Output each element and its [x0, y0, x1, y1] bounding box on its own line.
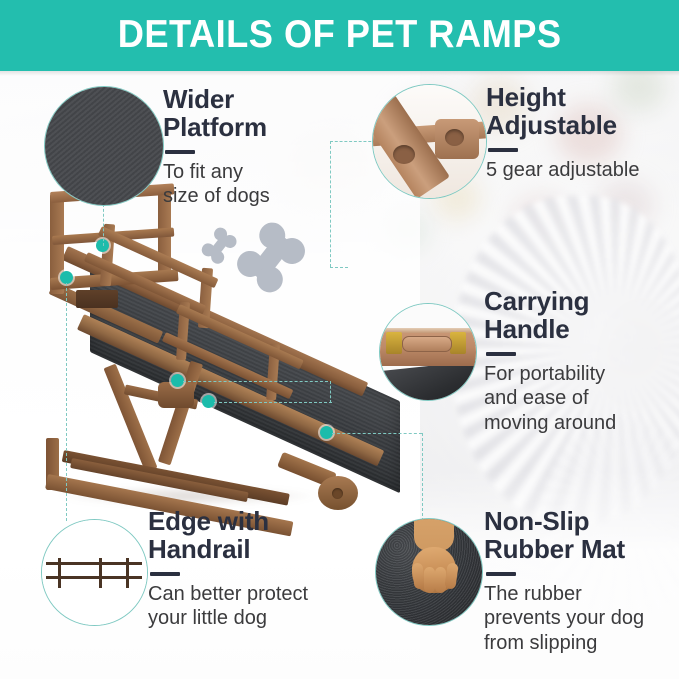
title-rule [150, 572, 180, 576]
feature-title: Wider Platform [163, 86, 353, 141]
feature-title: Non-Slip Rubber Mat [484, 508, 679, 563]
page-title: DETAILS OF PET RAMPS [118, 15, 562, 57]
handrail-post [99, 558, 102, 588]
adjust-hole [445, 129, 464, 146]
handle-grip [402, 336, 452, 352]
header-banner: DETAILS OF PET RAMPS [0, 0, 679, 71]
brass-bracket [450, 332, 466, 354]
paw-toe [444, 562, 459, 589]
feature-text-carrying-handle: Carrying Handle For portability and ease… [484, 288, 679, 435]
feature-body: 5 gear adjustable [486, 158, 676, 182]
dog-paw-on-rubber-mat-icon [376, 519, 482, 625]
title-rule [486, 572, 516, 576]
callout-image-carrying-handle [379, 303, 477, 401]
callout-line-carrying-handle [214, 402, 332, 403]
handrail-line-drawing-icon [42, 520, 147, 625]
callout-line-non-slip-mat [332, 433, 422, 434]
handrail-post [58, 558, 61, 588]
callout-image-non-slip-mat [375, 518, 483, 626]
platform-block [76, 290, 118, 308]
wooden-joint-closeup-icon [373, 85, 486, 198]
support-leg [103, 364, 157, 473]
feature-body: The rubber prevents your dog from slippi… [484, 582, 679, 655]
feature-text-non-slip-mat: Non-Slip Rubber Mat The rubber prevents … [484, 508, 679, 655]
feature-title: Edge with Handrail [148, 508, 363, 563]
feature-body: To fit any size of dogs [163, 160, 353, 209]
title-rule [165, 150, 195, 154]
feature-text-height-adjustable: Height Adjustable 5 gear adjustable [486, 84, 676, 182]
feature-body: Can better protect your little dog [148, 582, 363, 631]
dog-paw [408, 521, 460, 599]
feature-text-wider-platform: Wider Platform To fit any size of dogs [163, 86, 353, 209]
handrail-post [126, 558, 129, 588]
carrying-handle-closeup-icon [380, 304, 476, 400]
mat-edge [379, 360, 477, 401]
title-rule [488, 148, 518, 152]
feature-text-edge-handrail: Edge with Handrail Can better protect yo… [148, 508, 363, 631]
ramp-foot-pivot [332, 488, 343, 499]
callout-line-carrying-handle [330, 381, 331, 403]
callout-line-non-slip-mat [422, 433, 423, 521]
callout-image-height-adjustable [372, 84, 487, 199]
callout-line-height-adjustable [330, 267, 348, 268]
mat-texture [45, 87, 163, 205]
callout-line-edge-handrail [66, 283, 67, 521]
callout-image-edge-handrail [41, 519, 148, 626]
banner-shadow [0, 71, 679, 76]
callout-line-wider-platform [103, 204, 104, 246]
callout-line-carrying-handle [183, 381, 328, 382]
title-rule [486, 352, 516, 356]
brass-bracket [386, 332, 402, 354]
infographic-page: Wider Platform To fit any size of dogs H… [0, 0, 679, 679]
feature-title: Height Adjustable [486, 84, 676, 139]
feature-body: For portability and ease of moving aroun… [484, 362, 679, 435]
adjust-hole [393, 145, 415, 164]
paw-toe [424, 567, 435, 593]
callout-image-wider-platform [44, 86, 164, 206]
feature-title: Carrying Handle [484, 288, 679, 343]
